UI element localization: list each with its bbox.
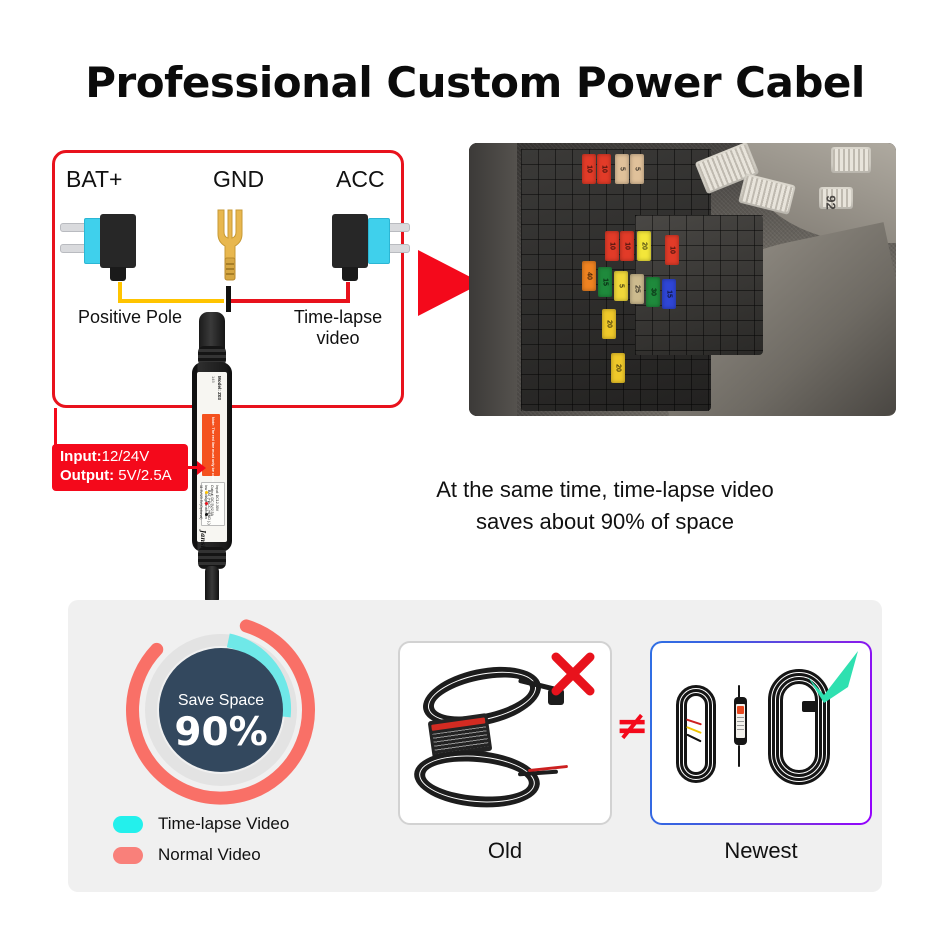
- fuse-item: 20: [602, 309, 616, 339]
- x-mark-icon: [550, 651, 596, 697]
- fuse-item: 10: [665, 235, 679, 265]
- fuse-item: 40: [582, 261, 596, 291]
- callout-connector-line: [54, 408, 57, 446]
- fuse-item: 5: [615, 154, 629, 184]
- sub-label-time-lapse-video: Time-lapse video: [283, 307, 393, 348]
- fuse-box-photo: 10 10 5 5 10 10 20 10 40 15 5 25 30 15 2…: [469, 143, 896, 416]
- spec-input-row: Input:12/24V: [60, 448, 180, 467]
- callout-pointer-tip: [197, 461, 206, 475]
- wire-acc-red: [346, 282, 350, 303]
- legend-item-time-lapse: Time-lapse Video: [113, 814, 343, 834]
- old-product-caption: Old: [398, 838, 612, 864]
- legend-label-normal: Normal Video: [158, 845, 261, 865]
- sub-label-positive-pole: Positive Pole: [78, 307, 182, 328]
- fuse-item: 10: [620, 231, 634, 261]
- module-code-text: 145: [211, 376, 216, 383]
- new-cable-module-icon: [734, 697, 747, 745]
- fuse-item: 15: [598, 267, 612, 297]
- donut-center-value: 90%: [174, 710, 267, 755]
- fuse-item: 5: [630, 154, 644, 184]
- fuse-tap-acc-icon: [330, 210, 404, 282]
- wire-ground-black: [226, 286, 231, 312]
- legend-item-normal: Normal Video: [113, 845, 343, 865]
- infographic-page: Professional Custom Power Cabel BAT+ GND…: [0, 0, 950, 951]
- connector-number-text: 92: [823, 195, 838, 209]
- power-cable-module-illustration: Model: Z03 145 Note: The red line must o…: [186, 312, 238, 602]
- spec-output-row: Output: 5V/2.5A: [60, 467, 180, 486]
- fuse-item: 20: [637, 231, 651, 261]
- wire-positive-yellow-horizontal: [118, 299, 224, 303]
- module-model-text: Model: Z03: [216, 376, 222, 400]
- chart-legend: Time-lapse Video Normal Video: [113, 814, 343, 876]
- page-title: Professional Custom Power Cabel: [0, 58, 950, 107]
- save-space-donut-chart: Save Space 90%: [116, 612, 326, 808]
- fuse-item: 20: [611, 353, 625, 383]
- fuse-tap-bat-icon: [64, 210, 138, 282]
- terminal-label-bat: BAT+: [66, 166, 122, 193]
- legend-swatch-normal: [113, 847, 143, 864]
- not-equal-icon: ≠: [614, 706, 650, 746]
- donut-center-label: Save Space: [178, 692, 264, 709]
- fuse-item: 30: [646, 277, 660, 307]
- time-lapse-description-line1: At the same time, time-lapse video: [370, 474, 840, 506]
- old-product-card[interactable]: [398, 641, 612, 825]
- time-lapse-description: At the same time, time-lapse video saves…: [370, 474, 840, 538]
- legend-label-time-lapse: Time-lapse Video: [158, 814, 289, 834]
- legend-swatch-time-lapse: [113, 816, 143, 833]
- terminal-label-acc: ACC: [336, 166, 385, 193]
- module-spec-note2: 11.5V/23.5V(Optional): [198, 485, 203, 519]
- check-mark-icon: [802, 647, 864, 705]
- fuse-item: 15: [662, 279, 676, 309]
- time-lapse-description-line2: saves about 90% of space: [370, 506, 840, 538]
- module-spec-input: Input: DC12-30V: [214, 485, 219, 511]
- wire-connector: [831, 147, 871, 173]
- spec-callout: Input:12/24V Output: 5V/2.5A: [52, 444, 188, 491]
- new-product-card[interactable]: [650, 641, 872, 825]
- fuse-item: 10: [582, 154, 596, 184]
- fuse-item: 10: [597, 154, 611, 184]
- fuse-item: 10: [605, 231, 619, 261]
- fuse-item: 5: [614, 271, 628, 301]
- wire-acc-red-horizontal: [226, 299, 350, 303]
- new-product-caption: Newest: [650, 838, 872, 864]
- fuse-item: 25: [630, 274, 644, 304]
- terminal-label-gnd: GND: [213, 166, 264, 193]
- ground-fork-terminal-icon: [209, 208, 251, 292]
